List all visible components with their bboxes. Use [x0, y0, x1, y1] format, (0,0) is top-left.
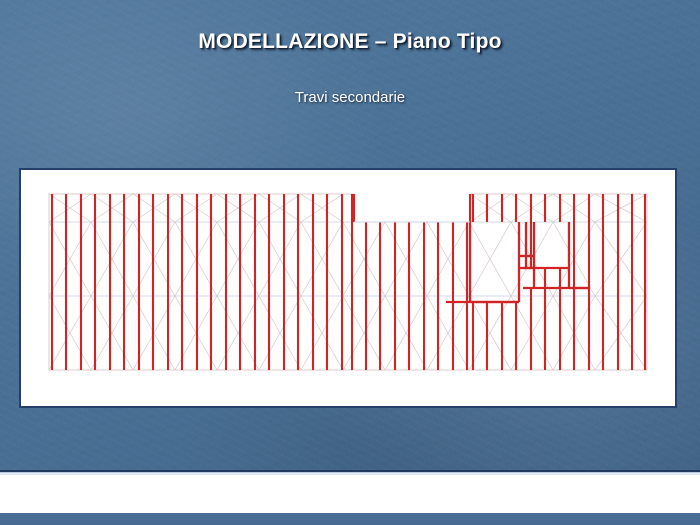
- footer-bottom-band: [0, 513, 700, 525]
- structural-plan-drawing: [21, 170, 675, 406]
- drawing-panel: [19, 168, 677, 408]
- page-subtitle: Travi secondarie: [0, 89, 700, 106]
- slide-footer: cllo PROGETTAZIONI E TECNOLOGIE PER LE C…: [0, 475, 700, 513]
- plan-svg: [21, 170, 675, 406]
- presentation-slide: MODELLAZIONE – Piano Tipo Travi secondar…: [0, 0, 700, 525]
- page-title: MODELLAZIONE – Piano Tipo: [0, 30, 700, 54]
- notch-edge: [354, 194, 470, 222]
